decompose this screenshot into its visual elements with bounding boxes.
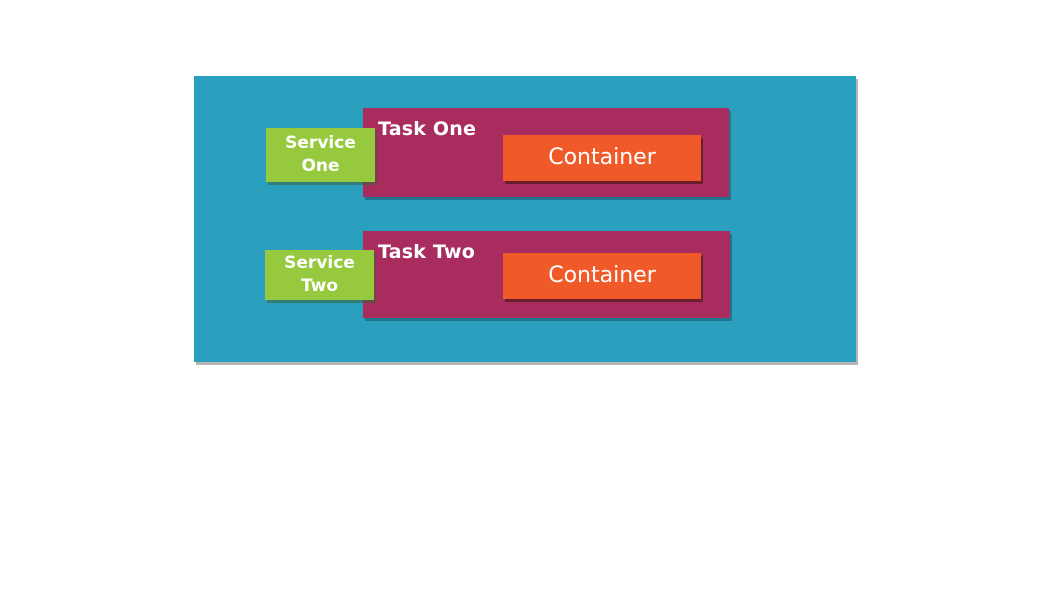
container-box-two[interactable]: Container bbox=[503, 253, 701, 299]
task-one-label: Task One bbox=[378, 118, 476, 140]
service-box-one[interactable]: Service One bbox=[266, 128, 375, 182]
container-two-label: Container bbox=[548, 265, 656, 287]
service-box-two[interactable]: Service Two bbox=[265, 250, 374, 300]
task-box-one[interactable]: Task One Container bbox=[363, 108, 729, 197]
task-box-two[interactable]: Task Two Container bbox=[363, 231, 730, 318]
service-two-label: Service Two bbox=[284, 252, 355, 298]
task-two-label: Task Two bbox=[378, 241, 475, 263]
cluster-region: Task One Container Task Two Container Se… bbox=[194, 76, 856, 362]
diagram-canvas: Task One Container Task Two Container Se… bbox=[0, 0, 1050, 590]
container-one-label: Container bbox=[548, 147, 656, 169]
container-box-one[interactable]: Container bbox=[503, 135, 701, 181]
service-one-label: Service One bbox=[285, 132, 356, 178]
